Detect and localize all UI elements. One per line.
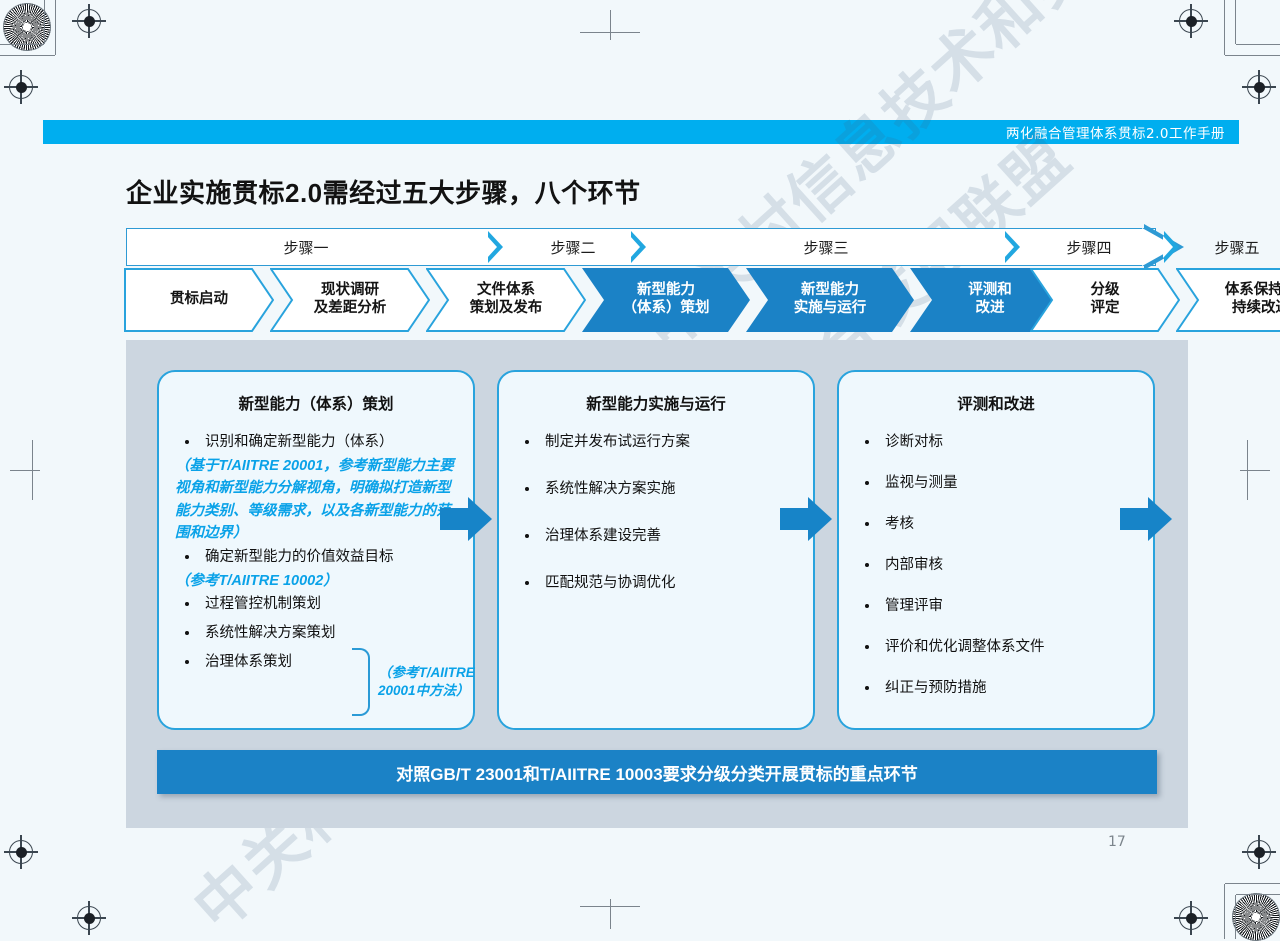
phase-chevron-3[interactable]: 文件体系 策划及发布 xyxy=(426,268,586,332)
registration-mark-left-upper xyxy=(4,70,38,104)
grouping-brace-icon xyxy=(352,648,370,716)
flow-arrow-icon-3 xyxy=(1120,497,1172,541)
center-mark-left xyxy=(10,440,40,500)
registration-mark-bottom-left xyxy=(72,901,106,935)
page-number: 17 xyxy=(1108,834,1126,850)
phase-chevron-label: 新型能力 （体系）策划 xyxy=(582,268,750,332)
phase-chevron-row: 贯标启动 现状调研 及差距分析 文件体系 策划及发布 新型能力 （体系）策划 xyxy=(124,268,1186,332)
step-label-text: 步骤三 xyxy=(803,237,848,258)
step-divider-icon-3 xyxy=(1005,231,1020,263)
flow-arrow-icon-1 xyxy=(440,497,492,541)
list-item-text: 诊断对标 xyxy=(885,434,943,450)
phase-chevron-label: 贯标启动 xyxy=(124,268,274,332)
list-item-text: 治理体系策划 xyxy=(205,654,292,670)
list-item: 纠正与预防措施 xyxy=(855,678,1139,699)
flow-arrow-icon-2 xyxy=(780,497,832,541)
registration-mark-right-lower xyxy=(1242,835,1276,869)
detail-box-implementation: 新型能力实施与运行 制定并发布试运行方案 系统性解决方案实施 治理体系建设完善 … xyxy=(497,370,815,730)
summary-banner-text: 对照GB/T 23001和T/AIITRE 10003要求分级分类开展贯标的重点… xyxy=(396,760,917,785)
list-item-text: 识别和确定新型能力（体系） xyxy=(205,434,394,450)
list-item-text: 制定并发布试运行方案 xyxy=(545,434,690,450)
detail-box-title: 新型能力实施与运行 xyxy=(499,372,813,414)
list-item-note: （参考T/AIITRE 10002） xyxy=(175,570,459,592)
list-item: 确定新型能力的价值效益目标 （参考T/AIITRE 10002） xyxy=(175,547,459,592)
step-divider-icon-2 xyxy=(631,231,646,263)
phase-chevron-1[interactable]: 贯标启动 xyxy=(124,268,274,332)
detail-box-title: 评测和改进 xyxy=(839,372,1153,414)
phase-chevron-label: 新型能力 实施与运行 xyxy=(746,268,914,332)
list-item-text: 系统性解决方案策划 xyxy=(205,625,336,641)
print-star-target-top-left xyxy=(3,3,51,51)
phase-chevron-4[interactable]: 新型能力 （体系）策划 xyxy=(582,268,750,332)
registration-mark-left-lower xyxy=(4,835,38,869)
step-divider-icon-1 xyxy=(488,231,503,263)
center-mark-right xyxy=(1240,440,1270,500)
list-item: 诊断对标 xyxy=(855,432,1139,453)
list-item-text: 确定新型能力的价值效益目标 xyxy=(205,549,394,565)
list-item-text: 监视与测量 xyxy=(885,475,958,491)
list-item-text: 管理评审 xyxy=(885,598,943,614)
phase-chevron-label: 现状调研 及差距分析 xyxy=(270,268,430,332)
registration-mark-top-left xyxy=(72,4,106,38)
step-label-2: 步骤二 xyxy=(508,228,638,266)
step-ribbon: 步骤一 步骤二 步骤三 步骤四 步骤五 xyxy=(126,228,1184,266)
detail-box-list: 制定并发布试运行方案 系统性解决方案实施 治理体系建设完善 匹配规范与协调优化 xyxy=(499,414,813,594)
page-title: 企业实施贯标2.0需经过五大步骤，八个环节 xyxy=(126,173,641,210)
step-label-4: 步骤四 xyxy=(1025,228,1153,266)
center-mark-bottom xyxy=(580,899,640,929)
list-item: 系统性解决方案实施 xyxy=(515,479,799,500)
phase-chevron-2[interactable]: 现状调研 及差距分析 xyxy=(270,268,430,332)
registration-mark-bottom-right xyxy=(1174,901,1208,935)
list-item-text: 匹配规范与协调优化 xyxy=(545,575,676,591)
list-item: 内部审核 xyxy=(855,555,1139,576)
list-item: 匹配规范与协调优化 xyxy=(515,573,799,594)
step-label-text: 步骤二 xyxy=(550,237,595,258)
list-item-text: 治理体系建设完善 xyxy=(545,528,661,544)
detail-box-evaluation: 评测和改进 诊断对标 监视与测量 考核 内部审核 管理评审 评价和优化调整体系文… xyxy=(837,370,1155,730)
list-item-text: 评价和优化调整体系文件 xyxy=(885,639,1045,655)
list-item-text: 系统性解决方案实施 xyxy=(545,481,676,497)
list-item: 治理体系建设完善 xyxy=(515,526,799,547)
list-item: 制定并发布试运行方案 xyxy=(515,432,799,453)
phase-chevron-5[interactable]: 新型能力 实施与运行 xyxy=(746,268,914,332)
step-label-text: 步骤五 xyxy=(1214,237,1259,258)
list-item-text: 纠正与预防措施 xyxy=(885,680,987,696)
phase-chevron-label: 文件体系 策划及发布 xyxy=(426,268,586,332)
step-label-text: 步骤四 xyxy=(1066,237,1111,258)
crop-mark-top-right xyxy=(1210,0,1280,70)
center-mark-top xyxy=(580,10,640,40)
registration-mark-right-upper xyxy=(1242,70,1276,104)
phase-chevron-label: 体系保持和 持续改进 xyxy=(1176,268,1280,332)
list-item-text: 内部审核 xyxy=(885,557,943,573)
list-item: 系统性解决方案策划 xyxy=(175,623,459,644)
detail-box-list: 识别和确定新型能力（体系） （基于T/AIITRE 20001，参考新型能力主要… xyxy=(159,414,473,673)
registration-mark-top-right xyxy=(1174,4,1208,38)
grouping-brace-note: （参考T/AIITRE 20001中方法） xyxy=(378,664,496,700)
step-divider-icon-4 xyxy=(1164,231,1179,263)
step-label-5: 步骤五 xyxy=(1182,228,1280,266)
list-item: 监视与测量 xyxy=(855,473,1139,494)
list-item: 评价和优化调整体系文件 xyxy=(855,637,1139,658)
print-star-target-bottom-right xyxy=(1232,893,1280,941)
header-bar-title: 两化融合管理体系贯标2.0工作手册 xyxy=(1006,122,1225,142)
step-label-text: 步骤一 xyxy=(283,237,328,258)
list-item-text: 考核 xyxy=(885,516,914,532)
list-item: 考核 xyxy=(855,514,1139,535)
phase-chevron-label: 分级 评定 xyxy=(1030,268,1180,332)
summary-banner: 对照GB/T 23001和T/AIITRE 10003要求分级分类开展贯标的重点… xyxy=(157,750,1157,794)
phase-chevron-7[interactable]: 分级 评定 xyxy=(1030,268,1180,332)
phase-chevron-8[interactable]: 体系保持和 持续改进 xyxy=(1176,268,1280,332)
list-item-note: （基于T/AIITRE 20001，参考新型能力主要视角和新型能力分解视角，明确… xyxy=(175,455,459,545)
step-label-3: 步骤三 xyxy=(651,228,1001,266)
detail-box-title: 新型能力（体系）策划 xyxy=(159,372,473,414)
list-item: 管理评审 xyxy=(855,596,1139,617)
list-item-text: 过程管控机制策划 xyxy=(205,596,321,612)
list-item: 识别和确定新型能力（体系） （基于T/AIITRE 20001，参考新型能力主要… xyxy=(175,432,459,545)
step-label-1: 步骤一 xyxy=(136,228,476,266)
list-item: 过程管控机制策划 xyxy=(175,594,459,615)
slide-page: 两化融合管理体系贯标2.0工作手册 中关村信息技术和实体经济融合发展联盟 中关村… xyxy=(0,0,1280,939)
header-bar: 两化融合管理体系贯标2.0工作手册 xyxy=(43,120,1239,144)
detail-box-list: 诊断对标 监视与测量 考核 内部审核 管理评审 评价和优化调整体系文件 纠正与预… xyxy=(839,414,1153,699)
